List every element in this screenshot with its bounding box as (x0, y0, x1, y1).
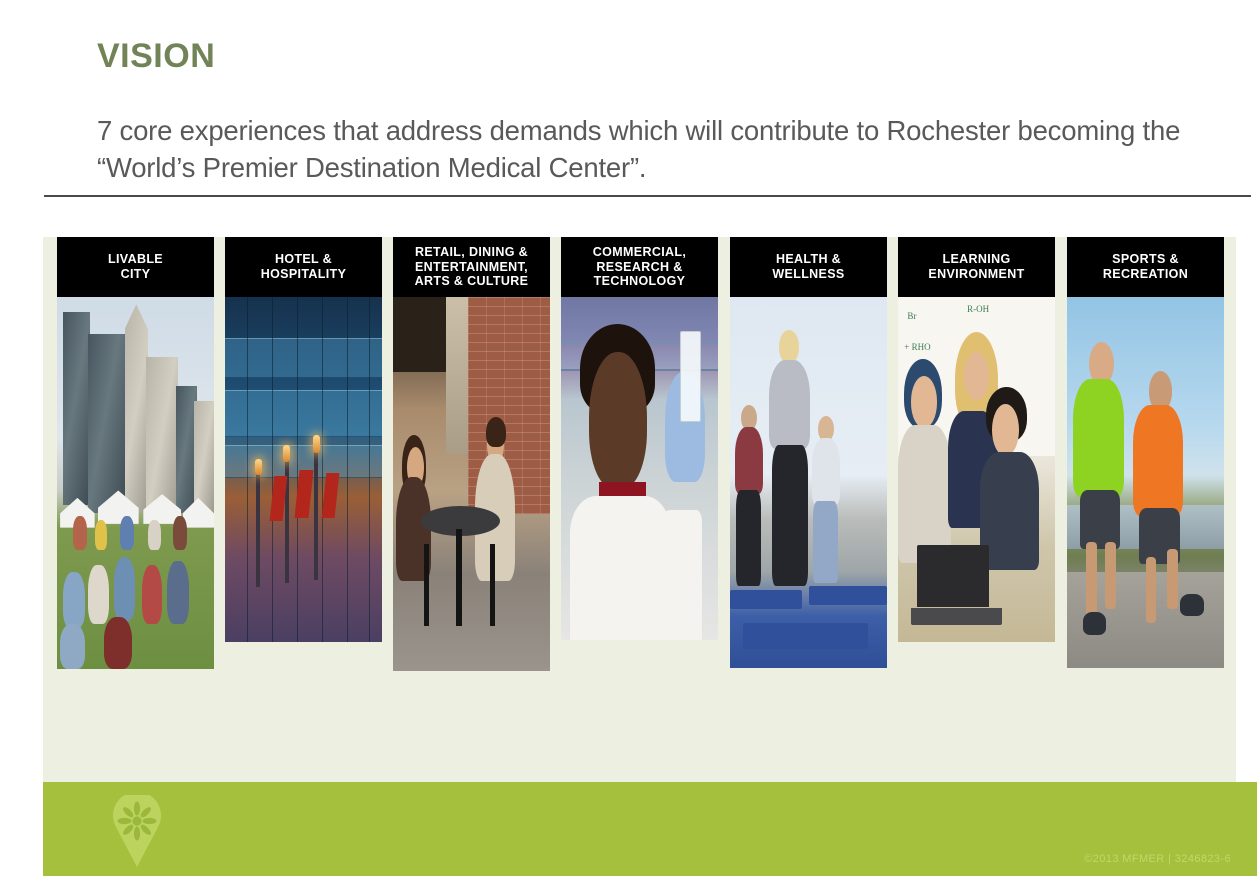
title-divider (44, 195, 1251, 197)
yoga-class-photo (730, 297, 887, 668)
experience-column-livable-city[interactable]: LIVABLE CITY (57, 237, 214, 669)
experience-column-health-wellness[interactable]: HEALTH & WELLNESS (730, 237, 887, 668)
experience-column-retail-dining[interactable]: RETAIL, DINING & ENTERTAINMENT, ARTS & C… (393, 237, 550, 671)
experience-columns: LIVABLE CITY (43, 237, 1236, 782)
experiences-panel: LIVABLE CITY (43, 237, 1236, 782)
mayo-clinic-pin-logo (111, 795, 163, 867)
column-header-commercial-research: COMMERCIAL, RESEARCH & TECHNOLOGY (561, 237, 718, 297)
experience-column-hotel-hospitality[interactable]: HOTEL & HOSPITALITY (225, 237, 382, 642)
page-title: VISION (97, 38, 215, 75)
column-header-hotel-hospitality: HOTEL & HOSPITALITY (225, 237, 382, 297)
hotel-facade-photo (225, 297, 382, 642)
joggers-photo (1067, 297, 1224, 668)
copyright-credit: ©2013 MFMER | 3246823-6 (1084, 853, 1231, 865)
experience-column-learning-environment[interactable]: LEARNING ENVIRONMENT Br + RHO R-OH (898, 237, 1055, 642)
city-plaza-photo (57, 297, 214, 669)
column-header-learning-environment: LEARNING ENVIRONMENT (898, 237, 1055, 297)
laboratory-researcher-photo (561, 297, 718, 640)
column-header-sports-recreation: SPORTS & RECREATION (1067, 237, 1224, 297)
experience-column-sports-recreation[interactable]: SPORTS & RECREATION (1067, 237, 1224, 668)
cafe-couple-photo (393, 297, 550, 671)
column-header-health-wellness: HEALTH & WELLNESS (730, 237, 887, 297)
students-laptop-photo: Br + RHO R-OH (898, 297, 1055, 642)
column-header-livable-city: LIVABLE CITY (57, 237, 214, 297)
experience-column-commercial-research[interactable]: COMMERCIAL, RESEARCH & TECHNOLOGY (561, 237, 718, 640)
column-header-retail-dining: RETAIL, DINING & ENTERTAINMENT, ARTS & C… (393, 237, 550, 297)
footer-band: ©2013 MFMER | 3246823-6 (43, 782, 1257, 876)
slide-subtitle: 7 core experiences that address demands … (97, 113, 1217, 186)
